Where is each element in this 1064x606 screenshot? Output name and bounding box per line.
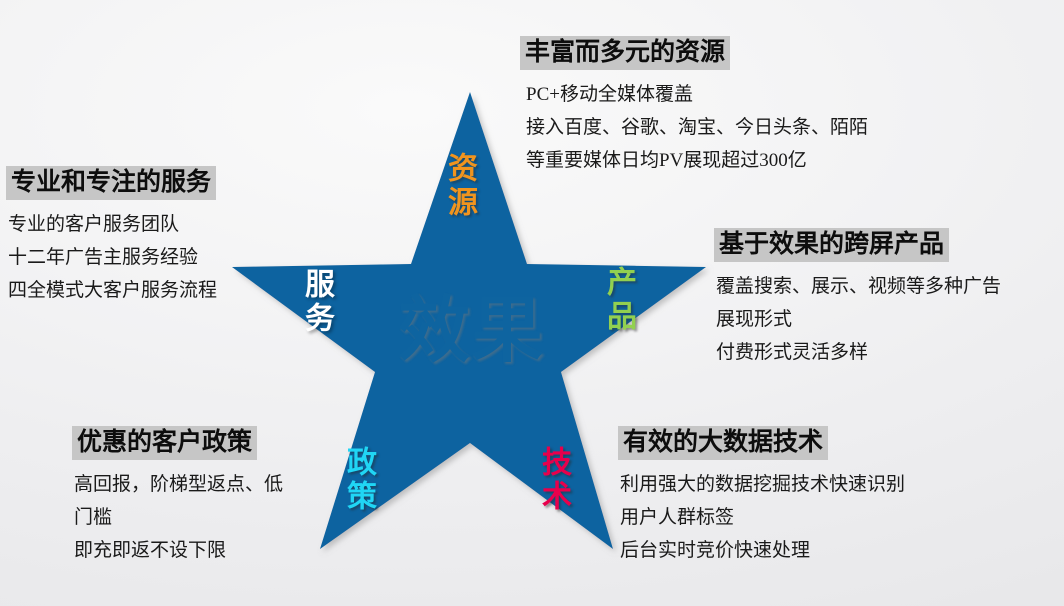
block-title-resources: 丰富而多元的资源 <box>520 36 730 70</box>
block-line: 即充即返不设下限 <box>74 534 283 567</box>
block-line: 高回报，阶梯型返点、低 <box>74 468 283 501</box>
star-arm-label-resources: 资源 <box>443 152 477 220</box>
block-line: 付费形式灵活多样 <box>716 336 1001 369</box>
block-line: 四全模式大客户服务流程 <box>8 274 217 307</box>
block-line: 接入百度、谷歌、淘宝、今日头条、陌陌 <box>526 111 868 144</box>
star-arm-label-policy: 政策 <box>342 446 376 514</box>
block-line: 十二年广告主服务经验 <box>8 241 217 274</box>
block-line: 门槛 <box>74 501 283 534</box>
block-line: PC+移动全媒体覆盖 <box>526 78 868 111</box>
block-lines-product: 覆盖搜索、展示、视频等多种广告 展现形式 付费形式灵活多样 <box>716 270 1001 369</box>
block-lines-policy: 高回报，阶梯型返点、低 门槛 即充即返不设下限 <box>74 468 283 567</box>
block-line: 用户人群标签 <box>620 501 905 534</box>
block-lines-bigdata: 利用强大的数据挖掘技术快速识别 用户人群标签 后台实时竞价快速处理 <box>620 468 905 567</box>
center-word: 效果 <box>375 292 567 370</box>
block-title-policy: 优惠的客户政策 <box>72 426 257 460</box>
block-title-bigdata: 有效的大数据技术 <box>618 426 828 460</box>
slide-canvas: 效果 资源 服务 产品 政策 技术 丰富而多元的资源 PC+移动全媒体覆盖 接入… <box>0 0 1064 606</box>
star-arm-label-service: 服务 <box>300 268 334 336</box>
block-line: 专业的客户服务团队 <box>8 208 217 241</box>
block-line: 利用强大的数据挖掘技术快速识别 <box>620 468 905 501</box>
block-line: 等重要媒体日均PV展现超过300亿 <box>526 144 868 177</box>
block-lines-resources: PC+移动全媒体覆盖 接入百度、谷歌、淘宝、今日头条、陌陌 等重要媒体日均PV展… <box>526 78 868 177</box>
text-block-bigdata: 有效的大数据技术 利用强大的数据挖掘技术快速识别 用户人群标签 后台实时竞价快速… <box>618 426 905 567</box>
block-title-product: 基于效果的跨屏产品 <box>714 228 949 262</box>
text-block-policy: 优惠的客户政策 高回报，阶梯型返点、低 门槛 即充即返不设下限 <box>72 426 283 567</box>
block-line: 覆盖搜索、展示、视频等多种广告 <box>716 270 1001 303</box>
star-arm-label-product: 产品 <box>602 266 636 334</box>
block-title-service: 专业和专注的服务 <box>6 166 216 200</box>
block-line: 展现形式 <box>716 303 1001 336</box>
text-block-resources: 丰富而多元的资源 PC+移动全媒体覆盖 接入百度、谷歌、淘宝、今日头条、陌陌 等… <box>520 36 868 177</box>
star-arm-label-technology: 技术 <box>537 446 571 514</box>
text-block-service: 专业和专注的服务 专业的客户服务团队 十二年广告主服务经验 四全模式大客户服务流… <box>6 166 217 307</box>
text-block-product: 基于效果的跨屏产品 覆盖搜索、展示、视频等多种广告 展现形式 付费形式灵活多样 <box>714 228 1001 369</box>
block-line: 后台实时竞价快速处理 <box>620 534 905 567</box>
block-lines-service: 专业的客户服务团队 十二年广告主服务经验 四全模式大客户服务流程 <box>8 208 217 307</box>
